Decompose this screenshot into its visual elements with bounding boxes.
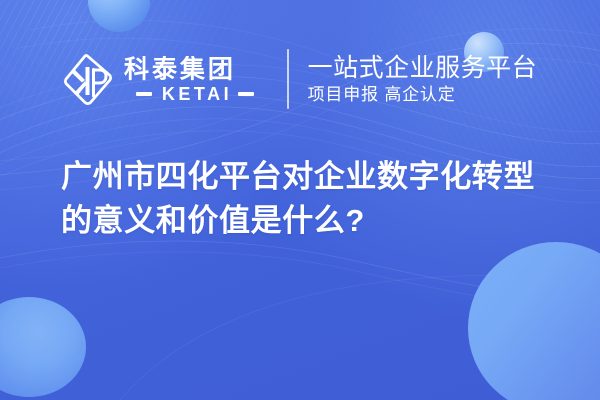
dash-right-icon (238, 92, 254, 96)
brand-wordmark: 科泰集团 KETAI (124, 56, 267, 103)
brand-name-en-row: KETAI (124, 85, 267, 103)
brand-logo: 科泰集团 KETAI (63, 53, 267, 106)
brand-name-cn-icon: 科泰集团 (124, 56, 267, 83)
promo-banner: 科泰集团 KETAI 一站式企业服务平台 项目申报 高企认定 广州市四化平台对企… (0, 0, 600, 400)
tagline-block: 一站式企业服务平台 项目申报 高企认定 (308, 54, 538, 104)
banner-header: 科泰集团 KETAI 一站式企业服务平台 项目申报 高企认定 (0, 40, 600, 118)
dash-left-icon (136, 92, 152, 96)
tagline-main: 一站式企业服务平台 (308, 54, 538, 82)
brand-name-en: KETAI (158, 85, 232, 103)
tagline-sub: 项目申报 高企认定 (308, 85, 538, 104)
brand-name-cn-text: 科泰集团 (124, 56, 236, 83)
vertical-divider-icon (287, 49, 289, 109)
ketai-kp-monogram-icon (63, 53, 113, 106)
page-title: 广州市四化平台对企业数字化转型 的意义和价值是什么? (61, 155, 561, 243)
